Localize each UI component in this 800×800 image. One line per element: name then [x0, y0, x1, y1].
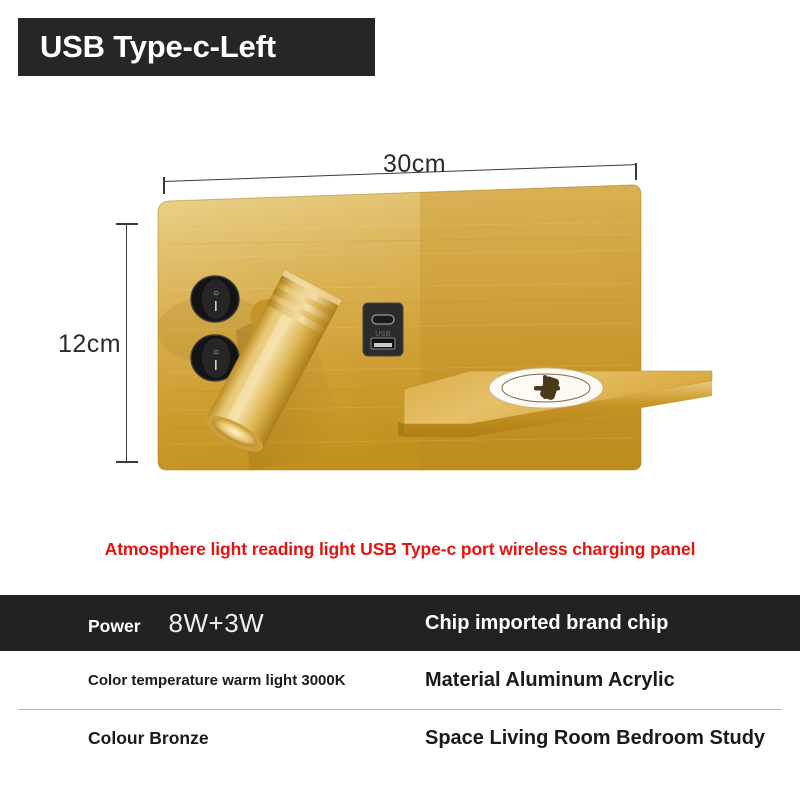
- switch-on-mark: [215, 301, 217, 311]
- spec-row-color-temperature: Color temperature warm light 3000K Mater…: [0, 651, 800, 709]
- switch-off-mark: ○: [213, 347, 219, 358]
- spec-value-power: 8W+3W: [169, 608, 265, 639]
- spec-table: Power 8W+3W Chip imported brand chip Col…: [0, 595, 800, 770]
- usb-type-c-icon: [372, 315, 394, 324]
- rocker-switch-top[interactable]: ○: [191, 276, 239, 322]
- usb-port-label: USB: [375, 329, 391, 338]
- spec-cell-right-space: Space Living Room Bedroom Study: [425, 727, 765, 750]
- spec-label-colour: Colour Bronze: [88, 728, 209, 749]
- product-illustration: ○ ○: [0, 0, 800, 520]
- spec-cell-right-material: Material Aluminum Acrylic: [425, 669, 675, 692]
- spec-row-power: Power 8W+3W Chip imported brand chip: [0, 595, 800, 651]
- wireless-charging-pad: [489, 368, 603, 408]
- spec-cell-left: Power 8W+3W: [88, 608, 264, 639]
- spec-row-colour: Colour Bronze Space Living Room Bedroom …: [0, 709, 800, 767]
- product-caption: Atmosphere light reading light USB Type-…: [0, 539, 800, 560]
- product-image-stage: USB Type-c-Left 30cm 12cm: [0, 0, 800, 800]
- spec-cell-right-chip: Chip imported brand chip: [425, 612, 668, 635]
- switch-off-mark: ○: [213, 288, 219, 299]
- usb-a-icon: [371, 338, 395, 349]
- spec-label-color-temperature: Color temperature warm light 3000K: [88, 672, 346, 689]
- switch-on-mark: [215, 360, 217, 370]
- usb-port-module[interactable]: USB: [363, 303, 403, 356]
- spec-label-power: Power: [88, 616, 141, 637]
